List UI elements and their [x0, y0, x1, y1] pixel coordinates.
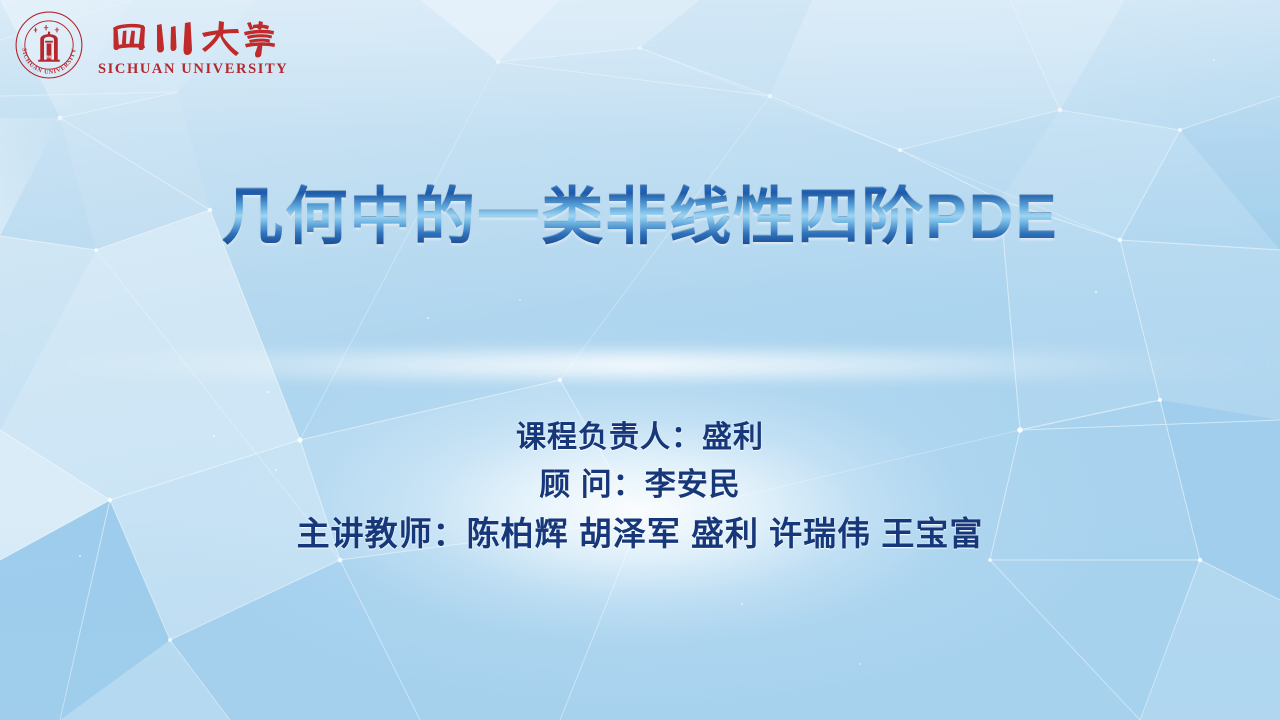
- sichuan-university-seal-icon: SICHUAN UNIVERSITY 1896: [14, 10, 84, 80]
- seal-year: 1896: [44, 54, 55, 59]
- background-polygons: [0, 0, 1280, 720]
- credit-advisor: 顾 问：李安民: [0, 461, 1280, 509]
- university-brand-lockup: SICHUAN UNIVERSITY 1896: [14, 10, 288, 80]
- title-slide: SICHUAN UNIVERSITY 1896: [0, 0, 1280, 720]
- slide-title-container: 几何中的一类非线性四阶PDE: [0, 185, 1280, 252]
- university-wordmark: SICHUAN UNIVERSITY: [98, 14, 288, 77]
- credits-block: 课程负责人：盛利 顾 问：李安民 主讲教师：陈柏辉 胡泽军 盛利 许瑞伟 王宝富: [0, 415, 1280, 559]
- credit-lecturers: 主讲教师：陈柏辉 胡泽军 盛利 许瑞伟 王宝富: [0, 509, 1280, 559]
- university-name-en: SICHUAN UNIVERSITY: [98, 62, 288, 77]
- credit-course-leader: 课程负责人：盛利: [0, 415, 1280, 461]
- university-name-cn-calligraphy: [109, 16, 277, 60]
- slide-title: 几何中的一类非线性四阶PDE: [221, 185, 1058, 252]
- background-light-streak: [0, 352, 1280, 378]
